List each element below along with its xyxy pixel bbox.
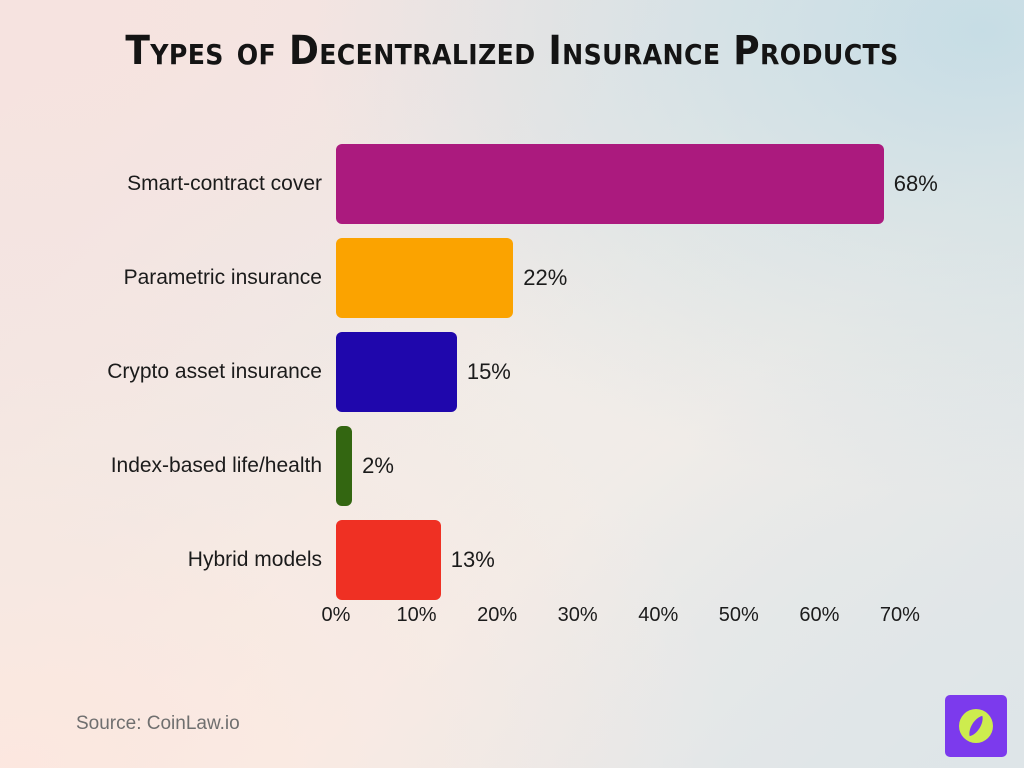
x-tick-label: 40% xyxy=(638,604,678,627)
category-label: Hybrid models xyxy=(188,520,336,600)
x-tick-label: 70% xyxy=(880,604,920,627)
x-tick-label: 0% xyxy=(322,604,351,627)
category-label: Parametric insurance xyxy=(124,238,336,318)
bar-value-label: 22% xyxy=(513,238,567,318)
chart-poster: Types of Decentralized Insurance Product… xyxy=(0,0,1024,768)
x-tick-label: 20% xyxy=(477,604,517,627)
bar-row: Crypto asset insurance15% xyxy=(336,332,912,412)
category-label: Index-based life/health xyxy=(111,426,336,506)
bar-value-label: 13% xyxy=(441,520,495,600)
bar-value-label: 2% xyxy=(352,426,394,506)
bar xyxy=(336,520,441,600)
x-tick-label: 10% xyxy=(397,604,437,627)
source-note: Source: CoinLaw.io xyxy=(76,713,240,735)
category-label: Smart-contract cover xyxy=(127,144,336,224)
x-tick-label: 60% xyxy=(799,604,839,627)
plot-area: Smart-contract cover68%Parametric insura… xyxy=(336,144,912,598)
x-tick-label: 50% xyxy=(719,604,759,627)
bar-row: Hybrid models13% xyxy=(336,520,912,600)
bar xyxy=(336,426,352,506)
bar-value-label: 68% xyxy=(884,144,938,224)
coinlaw-logo-badge[interactable] xyxy=(945,695,1007,757)
bar-row: Parametric insurance22% xyxy=(336,238,912,318)
bar xyxy=(336,238,513,318)
bar-row: Index-based life/health2% xyxy=(336,426,912,506)
compass-icon xyxy=(954,704,998,748)
bar-value-label: 15% xyxy=(457,332,511,412)
bar xyxy=(336,144,884,224)
x-tick-label: 30% xyxy=(558,604,598,627)
x-axis: 0%10%20%30%40%50%60%70% xyxy=(336,604,936,634)
category-label: Crypto asset insurance xyxy=(107,332,336,412)
chart-title: Types of Decentralized Insurance Product… xyxy=(51,28,973,74)
bar xyxy=(336,332,457,412)
bar-row: Smart-contract cover68% xyxy=(336,144,912,224)
